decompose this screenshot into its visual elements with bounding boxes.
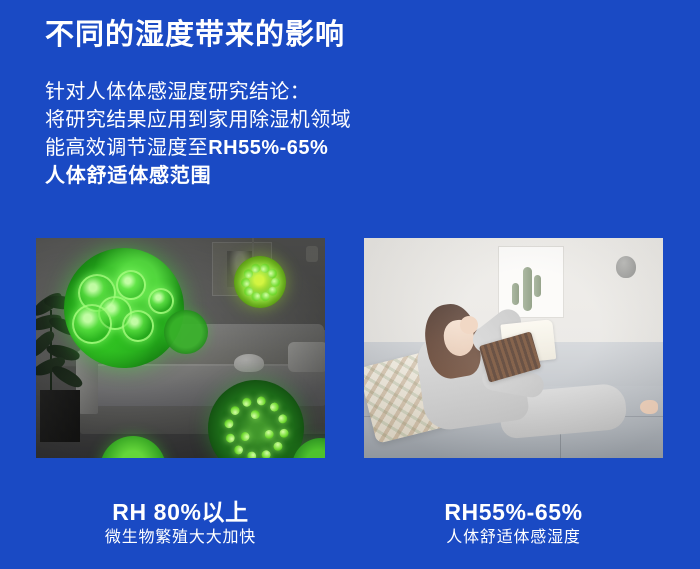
coccus-group <box>64 248 184 368</box>
virus-spike-icon <box>232 443 245 456</box>
virus-spike-icon <box>256 395 266 405</box>
sofa-cushion <box>234 354 264 372</box>
page-title: 不同的湿度带来的影响 <box>45 19 345 52</box>
virus-spike-icon <box>223 418 233 428</box>
caption-comfort-humidity: RH55%-65% 人体舒适体感湿度 <box>364 498 663 550</box>
photo-comfort-humidity <box>364 238 663 458</box>
virus-spike-icon <box>250 409 260 419</box>
virus-spike-icon <box>241 278 250 287</box>
germ-cluster-large-icon <box>64 248 184 368</box>
photo-high-humidity <box>36 238 325 458</box>
cactus-icon <box>523 267 532 311</box>
caption-title: RH 80%以上 <box>36 498 325 526</box>
virus-spike-icon <box>246 450 256 458</box>
caption-subtitle: 人体舒适体感湿度 <box>364 526 663 550</box>
virus-spike-ring <box>208 380 304 458</box>
caption-title: RH55%-65% <box>364 498 663 526</box>
subtitle-block: 针对人体体感湿度研究结论： 将研究结果应用到家用除湿机领域 能高效调节湿度至RH… <box>45 78 465 190</box>
virus-spike-icon <box>228 404 241 417</box>
wall-switch-icon <box>306 246 318 262</box>
virus-spike-icon <box>241 396 253 408</box>
subtitle-line-3: 能高效调节湿度至RH55%-65% <box>45 134 465 162</box>
subtitle-line-4: 人体舒适体感范围 <box>45 162 465 190</box>
subtitle-line-1: 针对人体体感湿度研究结论： <box>45 78 465 106</box>
virus-spike-icon <box>271 440 284 453</box>
subtitle-line-3-prefix: 能高效调节湿度至 <box>45 137 208 159</box>
caption-subtitle: 微生物繁殖大大加快 <box>36 526 325 550</box>
coccus-icon <box>148 288 174 314</box>
coccus-icon <box>122 310 154 342</box>
virus-spike-icon <box>263 428 275 440</box>
foot <box>640 400 658 414</box>
book-cover <box>479 331 541 382</box>
virus-sphere-top-icon <box>234 256 286 308</box>
virus-spike-icon <box>268 400 281 413</box>
virus-spike-icon <box>238 430 251 443</box>
plant-pot <box>40 390 80 442</box>
germ-small-icon <box>164 310 208 354</box>
virus-sphere-bottom-icon <box>208 380 304 458</box>
virus-spike-icon <box>277 413 289 425</box>
sofa-pillow <box>288 342 325 372</box>
wall-speaker-icon <box>616 256 636 278</box>
subtitle-line-3-range: RH55%-65% <box>208 137 328 159</box>
virus-spike-icon <box>271 278 280 287</box>
humidity-infographic: 不同的湿度带来的影响 针对人体体感湿度研究结论： 将研究结果应用到家用除湿机领域… <box>0 0 700 569</box>
virus-spike-icon <box>278 428 288 438</box>
coccus-icon <box>116 270 146 300</box>
cactus-wall-art-icon <box>498 246 564 318</box>
dim-room-scene <box>36 238 325 458</box>
bright-room-scene <box>364 238 663 458</box>
subtitle-line-2: 将研究结果应用到家用除湿机领域 <box>45 106 465 134</box>
caption-high-humidity: RH 80%以上 微生物繁殖大大加快 <box>36 498 325 550</box>
coccus-icon <box>72 304 112 344</box>
virus-spike-ring <box>234 256 286 308</box>
virus-spike-icon <box>224 432 236 444</box>
virus-spike-icon <box>260 449 272 458</box>
germ-sphere-bottom-left-icon <box>100 436 166 458</box>
